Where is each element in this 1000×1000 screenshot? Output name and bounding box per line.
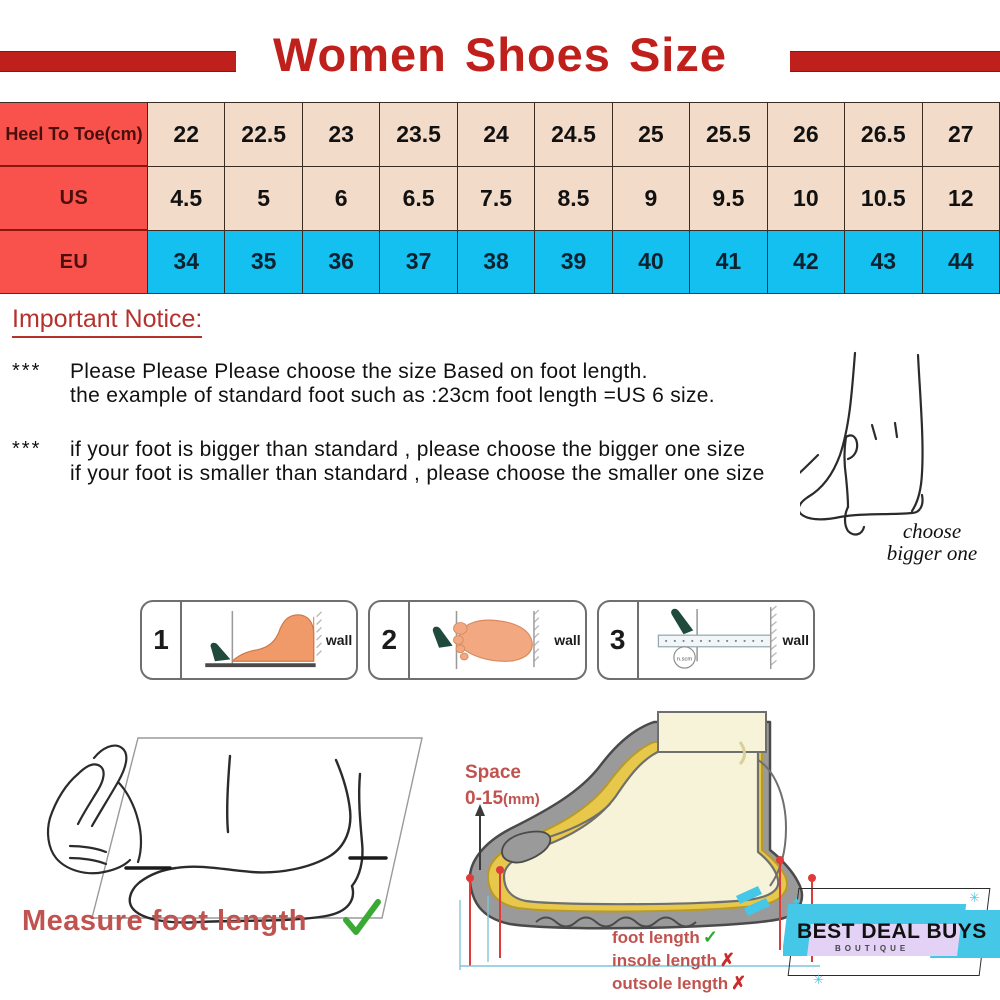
notice-line: if your foot is smaller than standard , … (12, 462, 852, 486)
cell-ht-1: 22.5 (225, 103, 302, 167)
cell-eu-7: 41 (690, 230, 767, 294)
cross-icon: ✗ (720, 950, 735, 970)
green-check-icon (340, 898, 384, 947)
notice-block-2: ***if your foot is bigger than standard … (12, 438, 852, 486)
step-number: 2 (370, 602, 410, 678)
cell-ht-8: 26 (767, 103, 844, 167)
cell-us-9: 10.5 (845, 166, 922, 230)
step-3: 3 n.scm (597, 600, 815, 680)
step-number: 1 (142, 602, 182, 678)
cell-us-1: 5 (225, 166, 302, 230)
space-label-title: Space (465, 760, 540, 786)
legend-row-foot-length: foot length✓ (612, 926, 746, 949)
cross-icon: ✗ (731, 973, 746, 993)
cell-ht-5: 24.5 (535, 103, 612, 167)
space-unit: (mm) (503, 791, 540, 808)
cell-ht-7: 25.5 (690, 103, 767, 167)
legend-row-insole-length: insole length✗ (612, 949, 746, 972)
cell-eu-1: 35 (225, 230, 302, 294)
cell-eu-0: 34 (148, 230, 225, 294)
space-range: 0-15 (465, 788, 503, 809)
cell-us-4: 7.5 (457, 166, 534, 230)
size-chart-page: WomenShoesSize Heel To Toe(cm) 22 22.5 2… (0, 0, 1000, 1000)
important-notice-section: Important Notice: ***Please Please Pleas… (12, 305, 852, 486)
space-label: Space 0-15(mm) (465, 760, 540, 811)
cell-ht-6: 25 (612, 103, 689, 167)
cell-ht-0: 22 (148, 103, 225, 167)
table-row: US 4.5 5 6 6.5 7.5 8.5 9 9.5 10 10.5 12 (1, 166, 1000, 230)
row-label-heel-to-toe: Heel To Toe(cm) (1, 103, 148, 167)
notice-title: Important Notice: (12, 305, 202, 338)
cell-ht-4: 24 (457, 103, 534, 167)
measurement-steps: 1 wall 2 (140, 600, 815, 680)
cell-eu-2: 36 (302, 230, 379, 294)
sparkle-icon: ✳ (813, 972, 824, 985)
legend-label: outsole length (612, 974, 728, 993)
wall-label: wall (326, 632, 352, 648)
cell-ht-2: 23 (302, 103, 379, 167)
cell-us-2: 6 (302, 166, 379, 230)
notice-text: the example of standard foot such as :23… (70, 384, 715, 407)
notice-text: if your foot is smaller than standard , … (70, 462, 765, 485)
check-icon: ✓ (703, 927, 718, 947)
cell-us-8: 10 (767, 166, 844, 230)
foot-sketch-caption: choose bigger one (862, 520, 1000, 564)
cell-eu-5: 39 (535, 230, 612, 294)
table-row: Heel To Toe(cm) 22 22.5 23 23.5 24 24.5 … (1, 103, 1000, 167)
notice-stars: *** (12, 360, 70, 383)
notice-line: ***Please Please Please choose the size … (12, 360, 852, 384)
cell-us-10: 12 (922, 166, 999, 230)
title-word-1: Women (273, 28, 447, 81)
svg-text:n.scm: n.scm (676, 656, 692, 662)
cell-ht-3: 23.5 (380, 103, 457, 167)
title-word-2: Shoes (465, 28, 611, 81)
step-2: 2 (368, 600, 586, 680)
cell-ht-10: 27 (922, 103, 999, 167)
step-1: 1 wall (140, 600, 358, 680)
cell-eu-6: 40 (612, 230, 689, 294)
cell-us-7: 9.5 (690, 166, 767, 230)
watermark-brand-name: BEST DEAL BUYS (797, 920, 997, 944)
cell-eu-3: 37 (380, 230, 457, 294)
legend-label: insole length (612, 951, 717, 970)
cell-us-3: 6.5 (380, 166, 457, 230)
step-number: 3 (599, 602, 639, 678)
space-label-value: 0-15(mm) (465, 786, 540, 812)
cell-eu-8: 42 (767, 230, 844, 294)
cell-eu-10: 44 (922, 230, 999, 294)
notice-stars: *** (12, 438, 70, 461)
watermark-subtitle: BOUTIQUE (835, 944, 975, 953)
sparkle-icon: ✳ (969, 890, 980, 906)
table-row: EU 34 35 36 37 38 39 40 41 42 43 44 (1, 230, 1000, 294)
brand-watermark: BEST DEAL BUYS BOUTIQUE ✦ ✳ ✳ (783, 880, 1000, 985)
cell-eu-9: 43 (845, 230, 922, 294)
wall-label: wall (783, 632, 809, 648)
caption-line-1: choose (862, 520, 1000, 542)
cell-eu-4: 38 (457, 230, 534, 294)
notice-block-1: ***Please Please Please choose the size … (12, 360, 852, 408)
cell-ht-9: 26.5 (845, 103, 922, 167)
row-label-us: US (1, 166, 148, 230)
wall-label: wall (554, 632, 580, 648)
measure-foot-length-label: Measure foot length (22, 905, 307, 938)
row-label-eu: EU (1, 230, 148, 294)
legend-row-outsole-length: outsole length✗ (612, 972, 746, 995)
cell-us-5: 8.5 (535, 166, 612, 230)
notice-line: the example of standard foot such as :23… (12, 384, 852, 408)
cell-us-6: 9 (612, 166, 689, 230)
notice-line: ***if your foot is bigger than standard … (12, 438, 852, 462)
page-header: WomenShoesSize (0, 20, 1000, 90)
shoe-length-legend: foot length✓ insole length✗ outsole leng… (612, 926, 746, 995)
legend-label: foot length (612, 928, 700, 947)
page-title: WomenShoesSize (0, 20, 1000, 90)
cell-us-0: 4.5 (148, 166, 225, 230)
caption-line-2: bigger one (862, 542, 1000, 564)
sparkle-icon: ✦ (791, 894, 802, 910)
title-word-3: Size (629, 28, 727, 81)
size-conversion-table: Heel To Toe(cm) 22 22.5 23 23.5 24 24.5 … (0, 102, 1000, 294)
notice-text: Please Please Please choose the size Bas… (70, 360, 648, 383)
notice-text: if your foot is bigger than standard , p… (70, 438, 745, 461)
